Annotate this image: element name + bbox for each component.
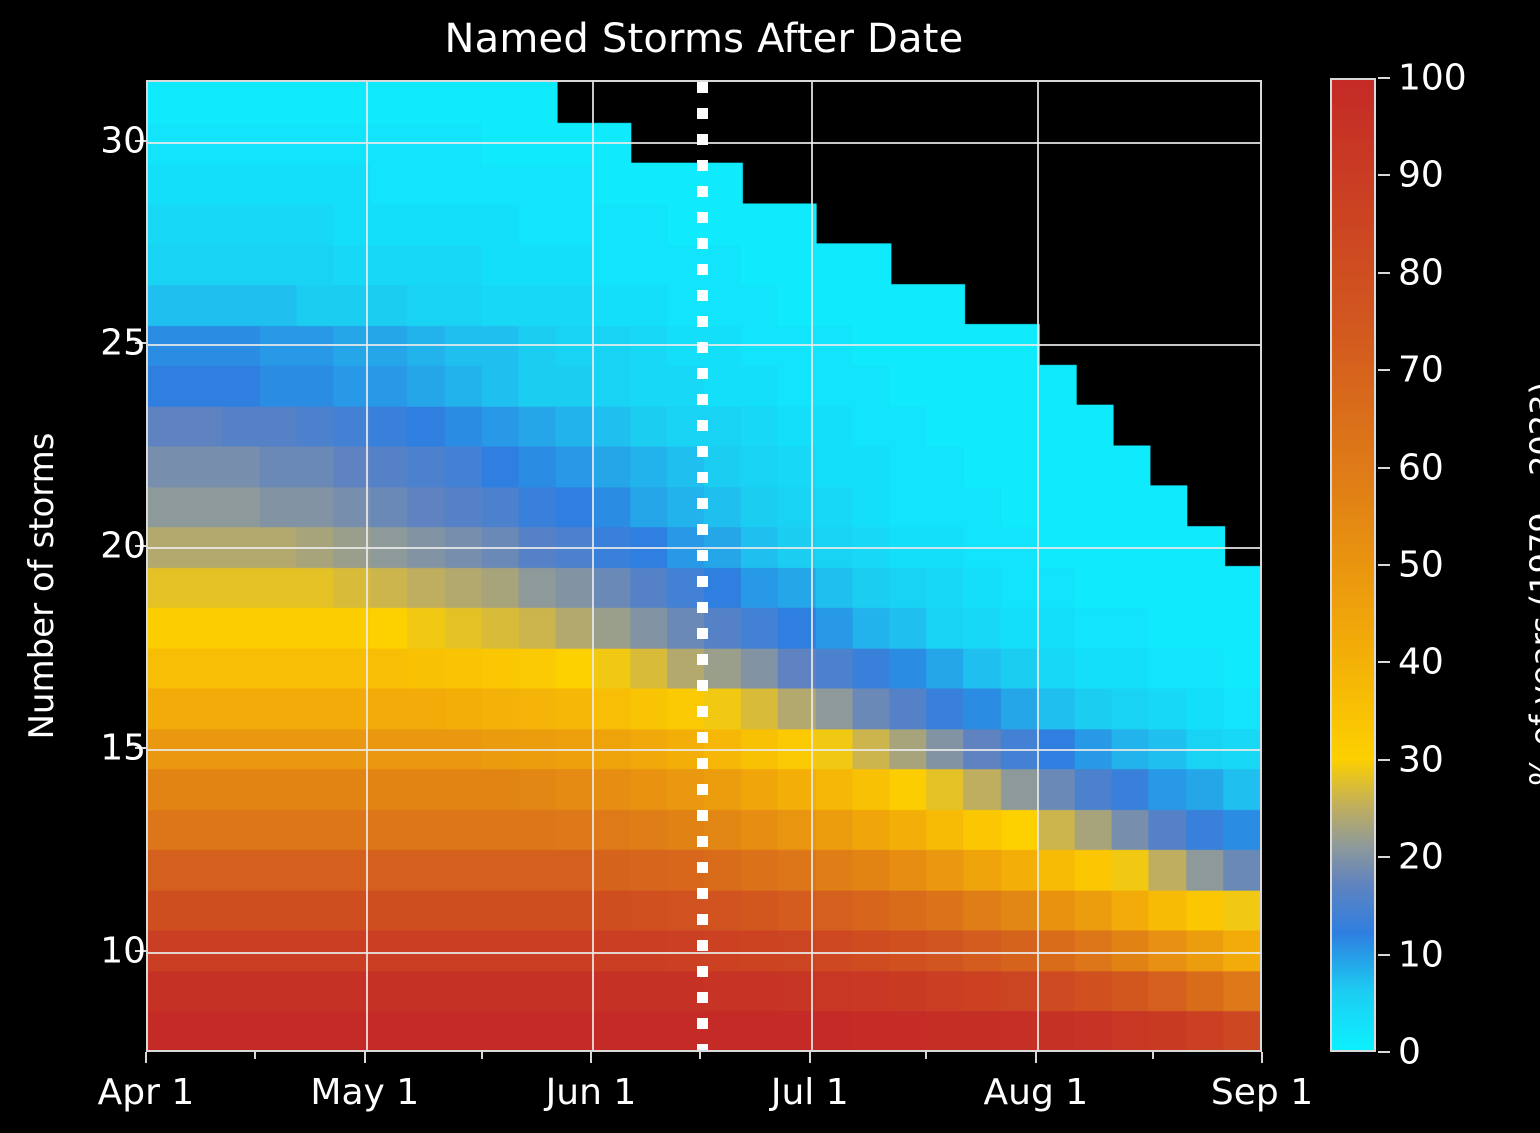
- x-tick-label: Jul 1: [771, 1072, 849, 1113]
- colorbar-tick-mark: [1378, 467, 1390, 469]
- x-tick-label: May 1: [310, 1072, 419, 1113]
- heatmap-plot-area[interactable]: [146, 80, 1262, 1052]
- x-tick-label: Sep 1: [1211, 1072, 1313, 1113]
- colorbar-tick-mark: [1378, 77, 1390, 79]
- colorbar-tick-label: 30: [1398, 739, 1444, 780]
- x-tick-label: Aug 1: [984, 1072, 1089, 1113]
- y-axis-label: Number of storms: [22, 376, 62, 796]
- x-tick-minor: [1152, 1052, 1154, 1059]
- chart-root: Named Storms After Date Number of storms…: [0, 0, 1540, 1133]
- colorbar-tick-label: 50: [1398, 545, 1444, 586]
- heatmap-canvas[interactable]: [148, 82, 1260, 1050]
- colorbar-axis-label: % of years (1979 – 2023): [1523, 324, 1540, 844]
- x-tick-label: Apr 1: [98, 1072, 195, 1113]
- colorbar-tick-label: 20: [1398, 837, 1444, 878]
- colorbar-tick-label: 70: [1398, 350, 1444, 391]
- x-tick-mark: [1261, 1052, 1263, 1063]
- colorbar-tick-mark: [1378, 564, 1390, 566]
- colorbar[interactable]: [1330, 78, 1376, 1052]
- x-tick-minor: [254, 1052, 256, 1059]
- colorbar-tick-mark: [1378, 759, 1390, 761]
- x-tick-minor: [699, 1052, 701, 1059]
- colorbar-tick-mark: [1378, 174, 1390, 176]
- x-tick-mark: [1035, 1052, 1037, 1063]
- colorbar-tick-mark: [1378, 369, 1390, 371]
- page-title: Named Storms After Date: [146, 16, 1262, 62]
- colorbar-tick-label: 10: [1398, 934, 1444, 975]
- x-tick-minor: [481, 1052, 483, 1059]
- x-tick-minor: [925, 1052, 927, 1059]
- colorbar-tick-mark: [1378, 661, 1390, 663]
- x-tick-label: Jun 1: [546, 1072, 637, 1113]
- x-tick-mark: [590, 1052, 592, 1063]
- colorbar-tick-label: 0: [1398, 1032, 1421, 1073]
- colorbar-tick-label: 80: [1398, 252, 1444, 293]
- colorbar-tick-mark: [1378, 856, 1390, 858]
- colorbar-tick-label: 100: [1398, 58, 1467, 99]
- colorbar-tick-mark: [1378, 272, 1390, 274]
- colorbar-tick-label: 60: [1398, 447, 1444, 488]
- y-tick-label: 10: [100, 930, 146, 971]
- colorbar-tick-mark: [1378, 954, 1390, 956]
- colorbar-tick-mark: [1378, 1051, 1390, 1053]
- y-tick-label: 25: [100, 323, 146, 364]
- x-tick-mark: [364, 1052, 366, 1063]
- x-tick-mark: [809, 1052, 811, 1063]
- y-tick-label: 15: [100, 728, 146, 769]
- colorbar-tick-label: 90: [1398, 155, 1444, 196]
- colorbar-tick-label: 40: [1398, 642, 1444, 683]
- x-tick-mark: [145, 1052, 147, 1063]
- y-tick-label: 30: [100, 120, 146, 161]
- y-tick-label: 20: [100, 525, 146, 566]
- colorbar-gradient: [1330, 78, 1376, 1052]
